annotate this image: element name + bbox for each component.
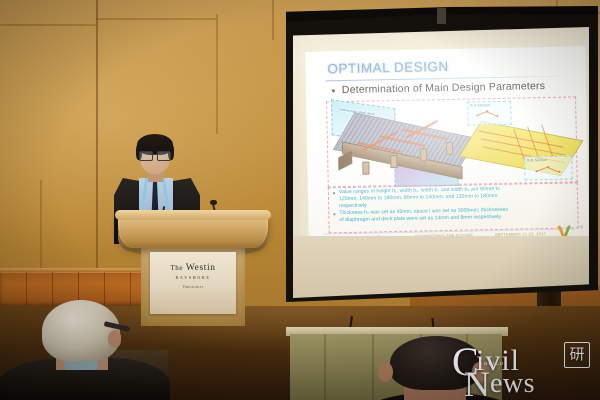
support-leg [362,162,369,175]
support-leg [390,155,397,168]
watermark-ews: ews [490,370,535,398]
section-label-b: B-B Section [527,158,547,162]
deck-end-face [338,150,352,170]
presentation-slide: OPTIMAL DESIGN Determination of Main Des… [305,46,589,246]
audience-member-left [12,296,162,400]
slide-title: OPTIMAL DESIGN [327,59,449,76]
conference-photo: OPTIMAL DESIGN Determination of Main Des… [0,0,600,400]
wall-seam [272,0,274,40]
wall-seam [96,0,98,272]
section-callout-b: B-B Section [524,155,572,180]
wall-seam [0,24,96,26]
screen-mount-bracket [437,8,446,24]
bullet-dot-icon [333,192,335,194]
section-label-a: A-A Section [470,103,490,107]
watermark-n: N [464,366,490,400]
wall-seam [216,14,218,134]
audience-left-ear [108,330,121,348]
body-text-container: Value ranges of height h₁, width b₁, wid… [328,182,579,233]
plaque-westin: Westin [186,263,216,273]
audience-left-hair [42,300,120,362]
venue-plaque: The Westin BAYSHORE Vancouver [150,252,236,314]
microphone-icon [210,200,217,205]
conference-logo-icon [559,225,573,236]
slide-page-number: 9 [580,224,583,229]
audience-right-ear [378,362,393,382]
projection-screen: OPTIMAL DESIGN Determination of Main Des… [286,6,598,302]
plaque-the: The [170,264,183,272]
watermark-logo: C ivil BUILD N ews 研 [446,336,594,398]
watermark-cjk-badge: 研 [564,342,590,368]
slide-subtitle: Determination of Main Design Parameters [342,80,546,96]
figure-container: Orthotropic steel deck Reinforcement det… [326,96,578,187]
section-callout-a: A-A Section [467,101,511,126]
wall-seam [40,180,42,272]
support-leg [420,148,427,161]
plaque-line-2: BAYSHORE [150,275,236,280]
eyeglasses-icon [139,151,171,159]
bullet-dot-icon [333,213,335,215]
support-leg [446,142,453,155]
screen-surface: OPTIMAL DESIGN Determination of Main Des… [293,27,589,271]
plaque-line-3: Vancouver [150,284,236,289]
wall-seam [96,18,216,20]
plaque-line-1: The Westin [150,263,236,273]
subtitle-bullet-icon [332,89,335,92]
lectern-lip [115,210,271,220]
